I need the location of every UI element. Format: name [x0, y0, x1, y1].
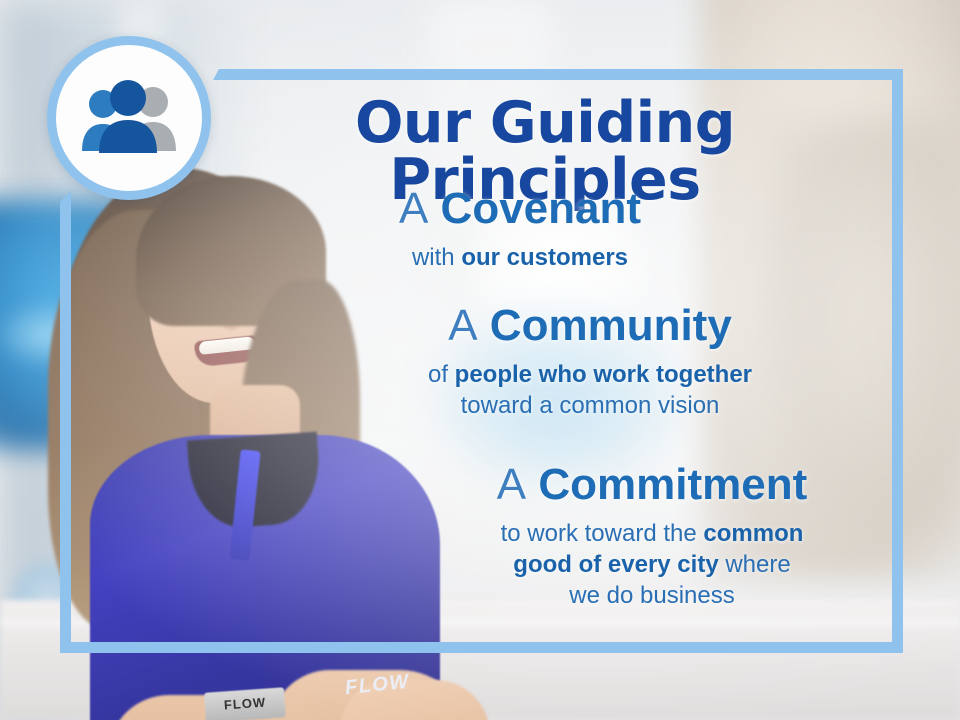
sub-plain: to work toward the	[501, 520, 704, 547]
sub-plain: toward a common vision	[461, 392, 720, 419]
sub-plain: with	[412, 244, 461, 271]
principle-heading-2: A Community	[380, 303, 800, 350]
principle-heading-1: A Covenant	[330, 186, 710, 233]
principle-sub-line: good of every city where	[432, 549, 872, 580]
principle-keyword-3: Commitment	[538, 460, 807, 509]
copy-layer: Our Guiding Principles A Covenant with o…	[0, 0, 960, 720]
principle-sub-1: with our customers	[330, 242, 710, 273]
sub-bold: people who work together	[455, 361, 752, 388]
sub-bold: common	[703, 520, 803, 547]
principle-sub-line: toward a common vision	[380, 390, 800, 421]
principle-block-commitment: A Commitment to work toward the common g…	[432, 462, 872, 611]
sub-plain: of	[428, 361, 455, 388]
principle-sub-line: of people who work together	[380, 359, 800, 390]
banner-canvas: FLOW FLOW Our Guiding Principles	[0, 0, 960, 720]
principle-article-1: A	[399, 184, 428, 233]
sub-plain: we do business	[569, 582, 734, 609]
principle-sub-line: we do business	[432, 580, 872, 611]
principle-sub-2: of people who work together toward a com…	[380, 359, 800, 421]
principle-block-community: A Community of people who work together …	[380, 303, 800, 421]
sub-bold: good of every city	[513, 551, 718, 578]
principle-heading-3: A Commitment	[432, 462, 872, 509]
principle-sub-3: to work toward the common good of every …	[432, 518, 872, 612]
principle-sub-line: to work toward the common	[432, 518, 872, 549]
principle-block-covenant: A Covenant with our customers	[330, 186, 710, 273]
principle-keyword-2: Community	[490, 301, 732, 350]
principle-sub-line: with our customers	[330, 242, 710, 273]
principle-keyword-1: Covenant	[441, 184, 641, 233]
sub-bold: our customers	[461, 244, 628, 271]
principle-article-2: A	[448, 301, 477, 350]
sub-plain-after: where	[719, 551, 791, 578]
principle-article-3: A	[497, 460, 526, 509]
